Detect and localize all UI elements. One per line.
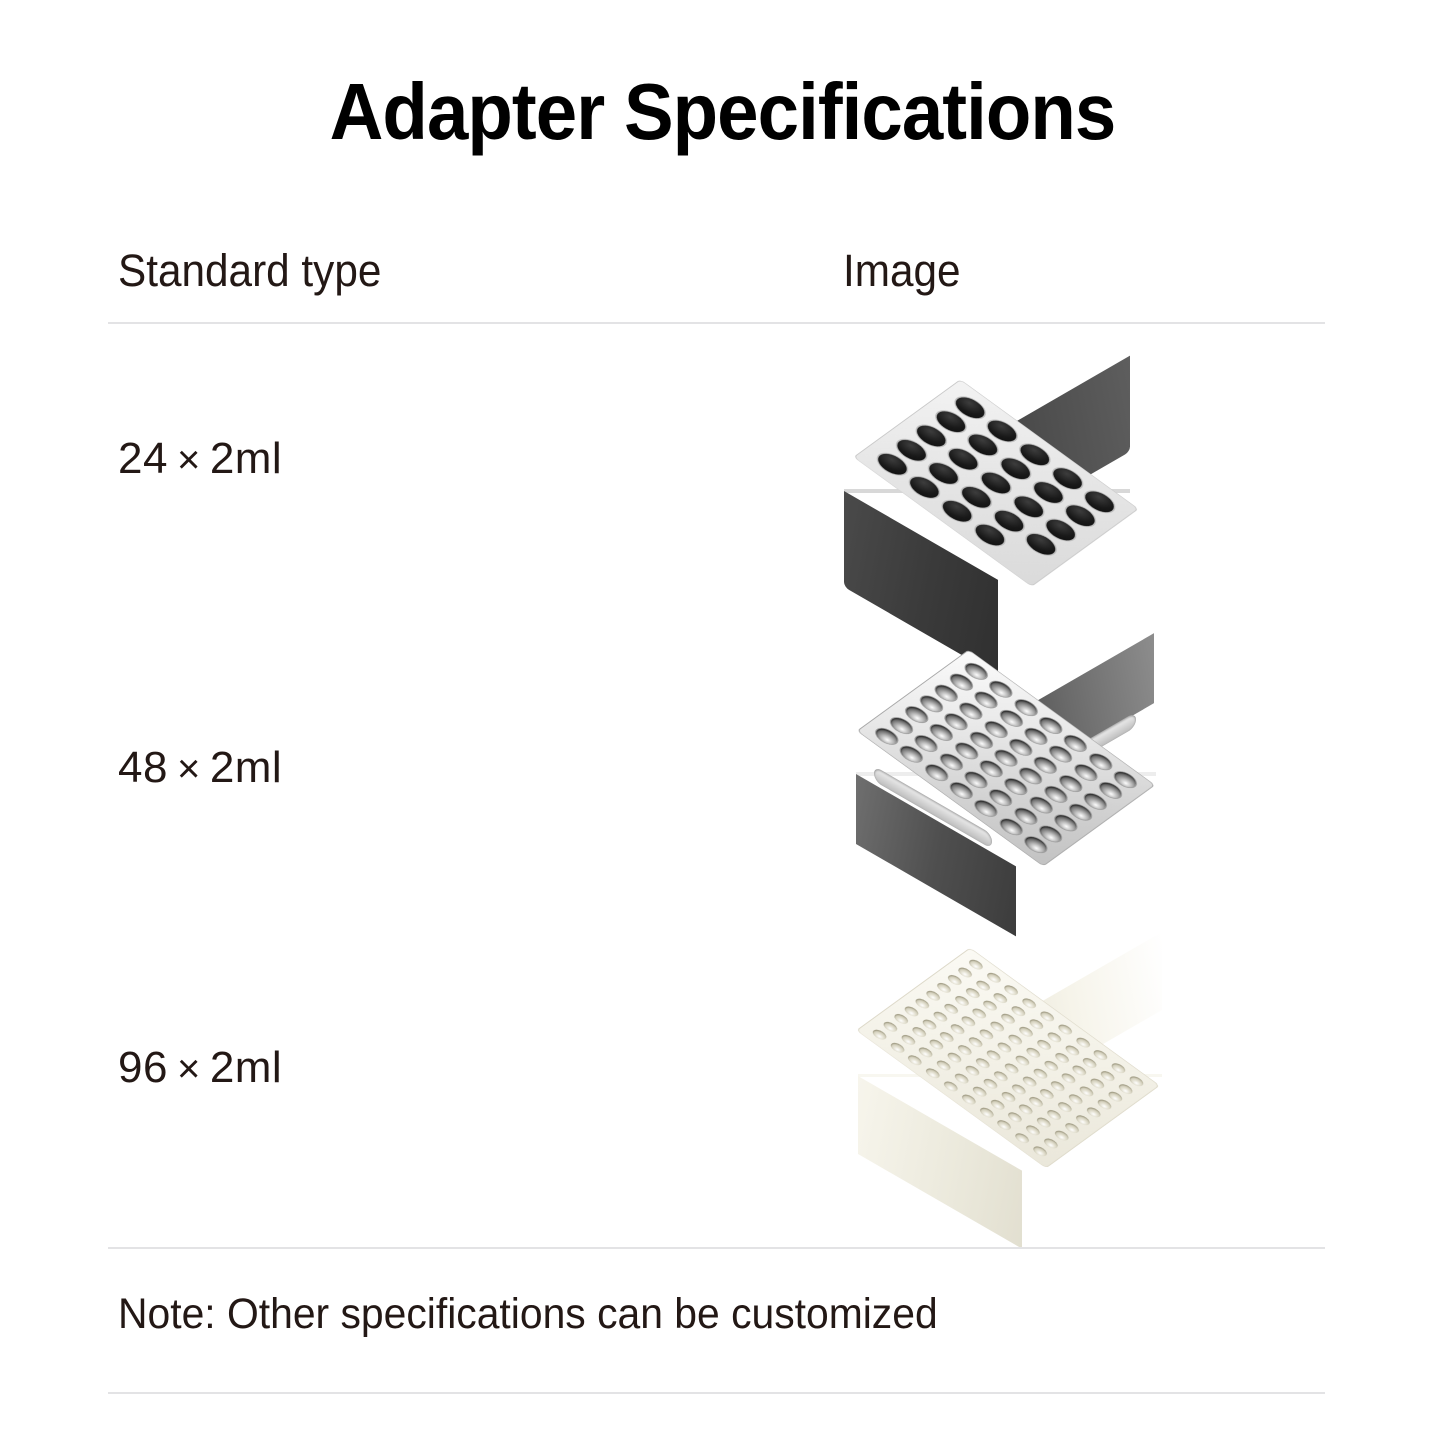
adapter-block-48-well [836,608,1176,908]
well [960,1015,978,1028]
well [1074,1114,1092,1127]
well [1045,1031,1063,1044]
well [1052,1129,1070,1142]
well [985,971,1003,984]
well [942,1002,960,1015]
well [1042,1059,1060,1072]
well [1095,1098,1113,1111]
well [1031,1067,1049,1080]
table-header-row: Standard type Image [108,243,1325,305]
well [970,1085,988,1098]
row-24-count: 24 [118,434,168,483]
well [924,1067,942,1080]
well [888,1041,906,1054]
well [1088,1077,1106,1090]
well [967,958,985,971]
well [1099,1069,1117,1082]
well [956,1044,974,1057]
well [935,1059,953,1072]
row-24-volume: 2ml [210,434,282,483]
well [963,1064,981,1077]
well [1045,1108,1063,1121]
well [952,994,970,1007]
body-divider [108,1247,1325,1249]
well [1038,1010,1056,1023]
well [1020,1075,1038,1088]
well [988,1020,1006,1033]
well [906,1054,924,1067]
well [963,986,981,999]
well [1117,1082,1135,1095]
well [949,1023,967,1036]
well [985,1049,1003,1062]
well [1049,1080,1067,1093]
well [1074,1036,1092,1049]
row-label-24: 24×2ml [118,437,282,481]
well [974,1057,992,1070]
well [1013,1054,1031,1067]
well [1006,1111,1024,1124]
well [988,1098,1006,1111]
well [927,1038,945,1051]
well [1024,1046,1042,1059]
well [920,1018,938,1031]
row-48-volume: 2ml [210,743,282,792]
well [1017,1103,1035,1116]
well [1063,1121,1081,1134]
well [1006,1033,1024,1046]
well [942,1080,960,1093]
well [956,966,974,979]
well [974,979,992,992]
well [1077,1085,1095,1098]
well [917,1046,935,1059]
well [952,1072,970,1085]
well [1035,1038,1053,1051]
well [935,981,953,994]
well [1056,1023,1074,1036]
well [967,1036,985,1049]
well [995,1119,1013,1132]
well [1042,1137,1060,1150]
note-text: Note: Other specifications can be custom… [118,1293,938,1336]
well [1038,1088,1056,1101]
well [1063,1044,1081,1057]
well [981,999,999,1012]
well [1085,1106,1103,1119]
well [960,1093,978,1106]
well [1067,1093,1085,1106]
row-96-multiplier: × [168,1047,210,1091]
header-divider [108,322,1325,324]
adapter-specifications-page: Adapter Specifications Standard type Ima… [0,0,1445,1445]
row-48-count: 48 [118,743,168,792]
well [981,1077,999,1090]
well [992,992,1010,1005]
well [995,1041,1013,1054]
well [1013,1132,1031,1145]
well [924,989,942,1002]
row-label-96: 96×2ml [118,1046,282,1090]
well [910,1025,928,1038]
column-header-image: Image [843,248,961,293]
well [1127,1075,1145,1088]
well [1017,1025,1035,1038]
well [999,1090,1017,1103]
well [902,1005,920,1018]
adapter-block-96-well [838,908,1178,1208]
well [938,1031,956,1044]
column-header-standard-type: Standard type [118,248,381,293]
well [1106,1090,1124,1103]
well [881,1020,899,1033]
well [1020,997,1038,1010]
well [1060,1072,1078,1085]
well [899,1033,917,1046]
page-title: Adapter Specifications [51,72,1395,152]
row-48-multiplier: × [168,747,210,791]
well [1010,1082,1028,1095]
well [913,997,931,1010]
adapter-block-24-well [826,333,1166,633]
well [1092,1049,1110,1062]
well [977,1106,995,1119]
row-96-count: 96 [118,1043,168,1092]
well [931,1010,949,1023]
well [870,1028,888,1041]
well [1035,1116,1053,1129]
well [892,1012,910,1025]
footer-divider [108,1392,1325,1394]
well [1031,1145,1049,1158]
well [1027,1095,1045,1108]
well [1052,1051,1070,1064]
well [1024,1124,1042,1137]
well [992,1069,1010,1082]
well [1081,1057,1099,1070]
well [970,1007,988,1020]
well [1002,984,1020,997]
well [945,973,963,986]
row-24-multiplier: × [168,438,210,482]
well [1110,1062,1128,1075]
well [977,1028,995,1041]
well [1010,1005,1028,1018]
row-label-48: 48×2ml [118,746,282,790]
well [1002,1062,1020,1075]
well [945,1051,963,1064]
well [1056,1101,1074,1114]
well [1070,1064,1088,1077]
row-96-volume: 2ml [210,1043,282,1092]
well [1027,1018,1045,1031]
well [999,1012,1017,1025]
